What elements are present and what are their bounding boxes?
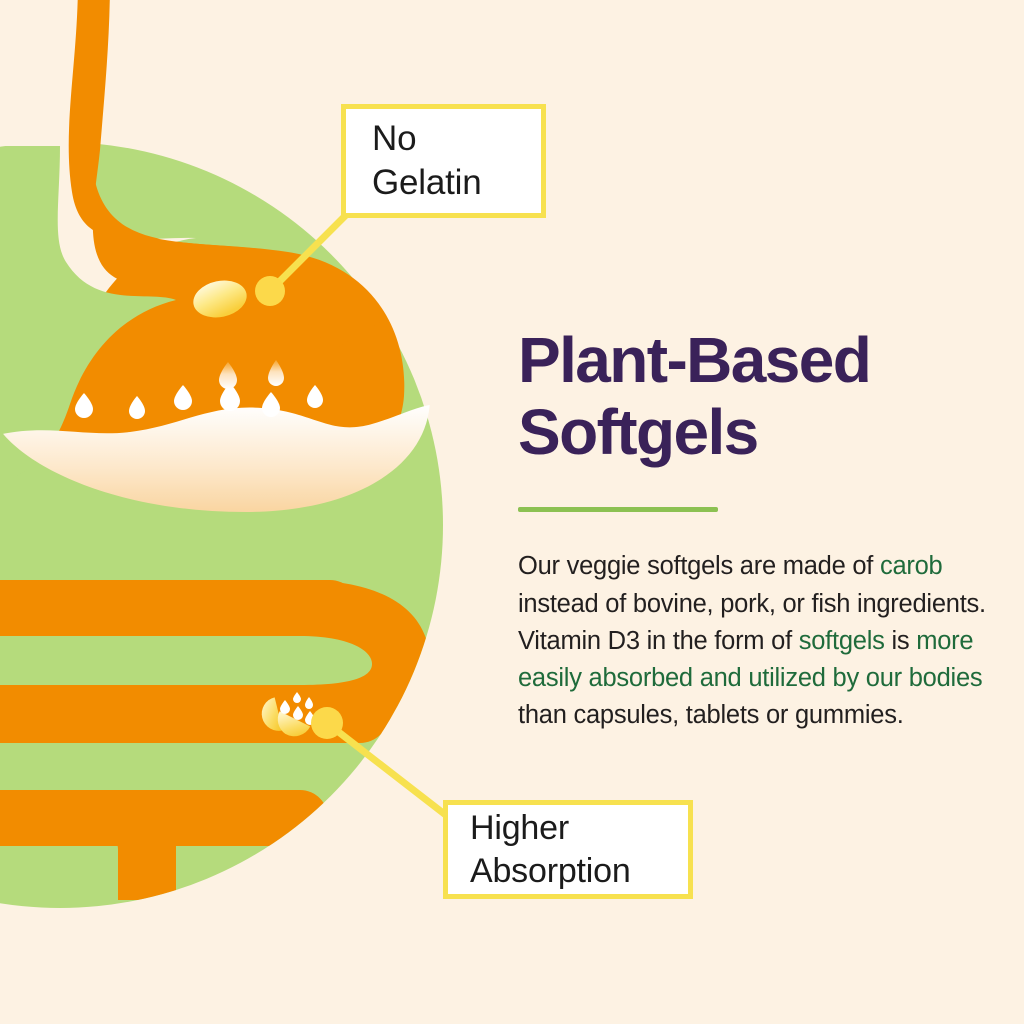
body-text-6: than capsules, tablets or gummies. — [518, 701, 904, 729]
page-title: Plant-Based Softgels — [518, 325, 988, 468]
anchor-dot-higher-absorption — [311, 707, 343, 739]
title-divider — [518, 507, 718, 512]
text-panel: Plant-Based Softgels Our veggie softgels… — [518, 325, 988, 760]
body-text-0: Our veggie softgels are made of — [518, 552, 880, 580]
body-highlight-1: carob — [880, 552, 943, 580]
body-text-4: is — [885, 627, 917, 655]
callout-higher-absorption-label: Higher Absorption — [448, 807, 631, 892]
body-highlight-3: softgels — [799, 627, 885, 655]
infographic-canvas: No Gelatin Higher Absorption Plant-Based… — [0, 0, 1024, 1024]
callout-no-gelatin-label: No Gelatin — [346, 117, 482, 205]
callout-no-gelatin[interactable]: No Gelatin — [341, 104, 546, 218]
anchor-dot-no-gelatin — [255, 276, 285, 306]
body-paragraph: Our veggie softgels are made of carob in… — [518, 548, 988, 734]
callout-higher-absorption[interactable]: Higher Absorption — [443, 800, 693, 899]
